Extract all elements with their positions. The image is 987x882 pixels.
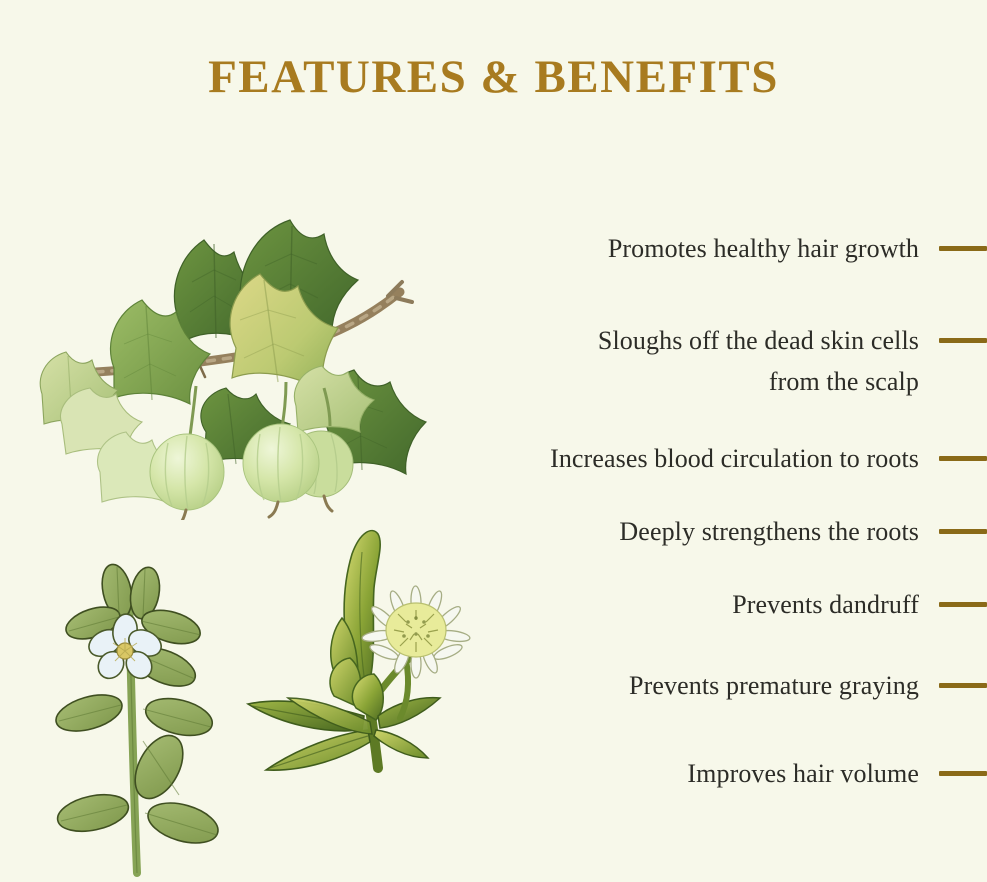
benefit-item-7: Improves hair volume [430, 753, 987, 794]
benefit-dash-icon [939, 246, 987, 251]
benefit-label: Improves hair volume [687, 753, 919, 794]
page-title: FEATURES & BENEFITS [0, 48, 987, 106]
benefit-dash-icon [939, 602, 987, 607]
brahmi-leaves-shape [55, 562, 223, 851]
bhringraj-leaves-shape [248, 698, 440, 770]
benefit-item-3: Increases blood circulation to roots [430, 438, 987, 479]
benefit-dash-icon [939, 529, 987, 534]
gooseberry-illustration [28, 200, 438, 520]
benefit-dash-icon [939, 771, 987, 776]
benefit-label: Prevents dandruff [732, 584, 919, 625]
benefit-item-1: Promotes healthy hair growth [430, 228, 987, 269]
benefit-dash-icon [939, 456, 987, 461]
benefit-label: Prevents premature graying [629, 665, 919, 706]
benefits-list: Promotes healthy hair growth Sloughs off… [430, 228, 987, 808]
bhringraj-bud-shape [330, 531, 383, 720]
brahmi-illustration [55, 555, 265, 880]
benefit-item-6: Prevents premature graying [430, 665, 987, 706]
benefit-label: Deeply strengthens the roots [619, 511, 919, 552]
benefit-label: Promotes healthy hair growth [608, 228, 919, 269]
benefit-item-2: Sloughs off the dead skin cells from the… [430, 320, 987, 402]
benefit-dash-icon [939, 683, 987, 688]
features-benefits-infographic: FEATURES & BENEFITS [0, 0, 987, 882]
benefit-label: Increases blood circulation to roots [550, 438, 919, 479]
gooseberry-berries-shape [150, 424, 353, 520]
benefit-label: Sloughs off the dead skin cells from the… [598, 320, 919, 402]
benefit-item-4: Deeply strengthens the roots [430, 511, 987, 552]
benefit-item-5: Prevents dandruff [430, 584, 987, 625]
benefit-dash-icon [939, 338, 987, 343]
